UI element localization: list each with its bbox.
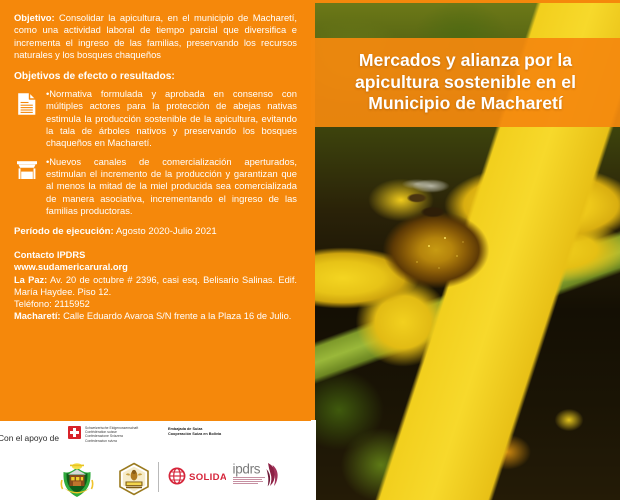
periodo-ejecucion: Período de ejecución: Agosto 2020-Julio …: [14, 226, 297, 237]
periodo-label: Período de ejecución:: [14, 226, 114, 237]
contact-lapaz: La Paz: Av. 20 de octubre # 2396, casi e…: [14, 275, 297, 297]
contact-telefono: Teléfono: 2115952: [14, 298, 297, 310]
photo-frame-top-edge: [311, 0, 620, 3]
contact-website[interactable]: www.sudamericarural.org: [14, 261, 297, 273]
objetivo-label: Objetivo:: [14, 12, 55, 23]
contact-block: Contacto IPDRS www.sudamericarural.org L…: [14, 249, 297, 322]
contact-machareti-label: Macharetí:: [14, 311, 61, 321]
left-content-panel: Objetivo: Consolidar la apicultura, en e…: [0, 0, 311, 421]
swiss-name-rm: Confederaziun svizra: [85, 439, 138, 443]
solidar-suisse-logo: SOLIDAR: [168, 467, 226, 485]
periodo-value: Agosto 2020-Julio 2021: [116, 226, 217, 237]
market-stall-icon: [14, 159, 40, 189]
contact-title: Contacto IPDRS: [14, 249, 297, 261]
result-bullet-2: •Nuevos canales de comercialización aper…: [14, 156, 297, 217]
logo-divider: [158, 462, 159, 492]
resultados-heading: Objetivos de efecto o resultados:: [14, 71, 297, 82]
svg-text:SOLIDAR: SOLIDAR: [189, 472, 226, 483]
embassy-line-2: Cooperación Suiza en Bolivia: [168, 432, 221, 437]
result-bullet-2-text: •Nuevos canales de comercialización aper…: [46, 156, 297, 217]
apicultores-hexagon-logo: [118, 462, 150, 496]
swiss-embassy-block: Embajada de Suiza Cooperación Suiza en B…: [168, 427, 221, 437]
apoyo-label: Con el apoyo de: [0, 433, 59, 443]
document-icon: [14, 91, 40, 121]
page-title: Mercados y alianza por la apicultura sos…: [311, 50, 620, 115]
svg-text:ipdrs: ipdrs: [233, 462, 261, 477]
result-bullet-1: •Normativa formulada y aprobada en conse…: [14, 88, 297, 149]
objetivo-paragraph: Objetivo: Consolidar la apicultura, en e…: [14, 12, 297, 61]
swiss-cross-icon: [68, 426, 81, 439]
contact-machareti-value: Calle Eduardo Avaroa S/N frente a la Pla…: [63, 311, 291, 321]
contact-lapaz-label: La Paz:: [14, 275, 47, 285]
partner-logo-strip: SOLIDAR ipdrs: [0, 457, 311, 500]
brochure-page: Objetivo: Consolidar la apicultura, en e…: [0, 0, 620, 500]
contact-lapaz-value: Av. 20 de octubre # 2396, casi esq. Beli…: [14, 275, 297, 297]
ipdrs-logo: ipdrs: [232, 460, 282, 490]
sponsor-footer: Con el apoyo de Schweizerische Eidgenoss…: [0, 421, 311, 500]
result-bullet-1-text: •Normativa formulada y aprobada en conse…: [46, 88, 297, 149]
photo-bottom-left-white-strip: [311, 420, 316, 500]
swiss-confederation-block: Schweizerische Eidgenossenschaft Confédé…: [68, 426, 138, 443]
swiss-confederation-names: Schweizerische Eidgenossenschaft Confédé…: [85, 426, 138, 443]
right-photo-panel: Mercados y alianza por la apicultura sos…: [311, 0, 620, 500]
machareti-municipality-shield: [60, 458, 94, 498]
title-band: Mercados y alianza por la apicultura sos…: [311, 38, 620, 127]
contact-machareti: Macharetí: Calle Eduardo Avaroa S/N fren…: [14, 311, 291, 321]
objetivo-text: Consolidar la apicultura, en el municipi…: [14, 12, 297, 60]
